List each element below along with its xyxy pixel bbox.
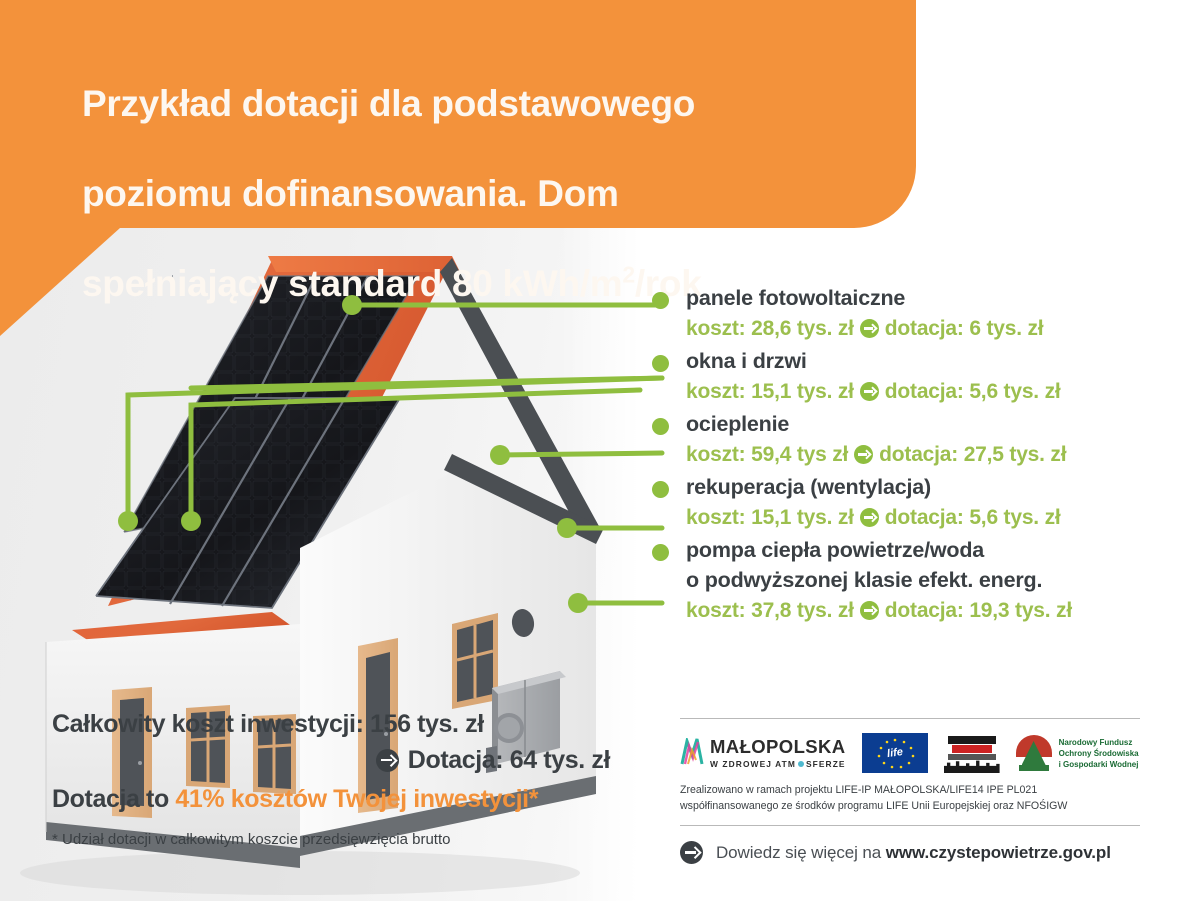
annotation-title: panele fotowoltaiczne	[686, 283, 1192, 313]
bullet-dot-icon	[652, 544, 669, 561]
annotation-title: rekuperacja (wentylacja)	[686, 472, 1192, 502]
arrow-right-circle-icon	[376, 749, 399, 772]
nfosigw-logo: Narodowy Fundusz Ochrony Środowiska i Go…	[1016, 735, 1145, 771]
grant-total-label: Dotacja: 64 tys. zł	[408, 742, 610, 778]
bullet-dot-icon	[652, 355, 669, 372]
annotation-grant: dotacja: 6 tys. zł	[885, 313, 1044, 344]
annotation-cost-row: koszt: 15,1 tys. zł dotacja: 5,6 tys. zł	[686, 502, 1192, 533]
infographic-root: Przykład dotacji dla podstawowego poziom…	[0, 0, 1200, 901]
title-superscript: 2	[622, 262, 634, 288]
kas-bar-top	[948, 736, 996, 744]
learn-more-prefix: Dowiedz się więcej na	[716, 843, 886, 862]
annotation-item-insulation: ocieplenie koszt: 59,4 tys zł dotacja: 2…	[652, 409, 1192, 470]
annotation-title: ocieplenie	[686, 409, 1192, 439]
malopolska-subtitle-b: SFERZE	[806, 760, 846, 768]
annotation-cost: koszt: 28,6 tys. zł	[686, 313, 854, 344]
footer-divider-top	[680, 718, 1140, 719]
arrow-right-circle-icon	[860, 601, 879, 620]
bullet-dot-icon	[652, 418, 669, 435]
annotation-item-heatpump: pompa ciepła powietrze/woda o podwyższon…	[652, 535, 1192, 626]
malopolska-logo: MAŁOPOLSKA W ZDROWEJ ATM SFERZE	[680, 738, 846, 768]
annotation-list: panele fotowoltaiczne koszt: 28,6 tys. z…	[652, 283, 1192, 628]
nfosigw-wordmark: Narodowy Fundusz Ochrony Środowiska i Go…	[1059, 737, 1145, 770]
annotation-cost: koszt: 15,1 tys. zł	[686, 376, 854, 407]
annotation-grant: dotacja: 5,6 tys. zł	[885, 502, 1061, 533]
kas-bar-bottom	[948, 754, 996, 760]
total-cost-line: Całkowity koszt inwestycji: 156 tys. zł	[52, 706, 652, 742]
malopolska-subtitle: W ZDROWEJ ATM SFERZE	[710, 760, 846, 768]
annotation-item-windows: okna i drzwi koszt: 15,1 tys. zł dotacja…	[652, 346, 1192, 407]
summary-footnote: * Udział dotacji w całkowitym koszcie pr…	[52, 828, 652, 852]
atmosphere-dot-icon	[798, 761, 804, 767]
footer-note-line-1: Zrealizowano w ramach projektu LIFE-IP M…	[680, 784, 1037, 796]
annotation-cost-row: koszt: 59,4 tys zł dotacja: 27,5 tys. zł	[686, 439, 1192, 470]
learn-more-text: Dowiedz się więcej na www.czystepowietrz…	[716, 843, 1111, 863]
nfosigw-shield-base	[1019, 765, 1049, 771]
website-url[interactable]: www.czystepowietrze.gov.pl	[886, 843, 1111, 862]
logo-row: MAŁOPOLSKA W ZDROWEJ ATM SFERZE	[680, 732, 1175, 774]
annotation-title: pompa ciepła powietrze/woda	[686, 535, 1192, 565]
footer-block: MAŁOPOLSKA W ZDROWEJ ATM SFERZE	[680, 718, 1175, 864]
summary-block: Całkowity koszt inwestycji: 156 tys. zł …	[52, 706, 652, 852]
eu-life-label: life	[886, 746, 903, 760]
learn-more-row[interactable]: Dowiedz się więcej na www.czystepowietrz…	[680, 841, 1175, 864]
nfosigw-line-2: Ochrony Środowiska	[1059, 749, 1139, 758]
nfosigw-shield-icon	[1016, 735, 1052, 771]
nfosigw-line-3: i Gospodarki Wodnej	[1059, 760, 1139, 769]
title-line-1: Przykład dotacji dla podstawowego	[82, 83, 695, 124]
arrow-right-circle-icon	[860, 319, 879, 338]
annotation-cost: koszt: 37,8 tys. zł	[686, 595, 854, 626]
kas-skyline-icon	[944, 760, 1000, 773]
arrow-right-circle-icon	[680, 841, 703, 864]
malopolska-subtitle-a: W ZDROWEJ ATM	[710, 760, 796, 768]
annotation-cost: koszt: 15,1 tys. zł	[686, 502, 854, 533]
bullet-dot-icon	[652, 292, 669, 309]
annotation-cost: koszt: 59,4 tys zł	[686, 439, 848, 470]
grant-total-line: Dotacja: 64 tys. zł	[52, 742, 652, 778]
kas-bar-mid	[952, 745, 992, 753]
arrow-right-circle-icon	[860, 382, 879, 401]
arrow-right-circle-icon	[854, 445, 873, 464]
bullet-dot-icon	[652, 481, 669, 498]
annotation-cost-row: koszt: 28,6 tys. zł dotacja: 6 tys. zł	[686, 313, 1192, 344]
footer-divider-bottom	[680, 825, 1140, 826]
annotation-grant: dotacja: 19,3 tys. zł	[885, 595, 1072, 626]
eu-life-logo: life	[862, 733, 928, 773]
krakowski-alarm-smogowy-logo	[944, 733, 1000, 773]
malopolska-mark-icon	[680, 738, 704, 765]
grant-share-prefix: Dotacja to	[52, 785, 175, 813]
nfosigw-line-1: Narodowy Fundusz	[1059, 738, 1133, 747]
annotation-grant: dotacja: 27,5 tys. zł	[879, 439, 1066, 470]
title-line-2: poziomu dofinansowania. Dom	[82, 173, 619, 214]
annotation-item-ventilation: rekuperacja (wentylacja) koszt: 15,1 tys…	[652, 472, 1192, 533]
annotation-title: okna i drzwi	[686, 346, 1192, 376]
page-title: Przykład dotacji dla podstawowego poziom…	[82, 36, 882, 306]
malopolska-title: MAŁOPOLSKA	[710, 738, 846, 757]
annotation-title-second-line: o podwyższonej klasie efekt. energ.	[686, 565, 1192, 595]
annotation-grant: dotacja: 5,6 tys. zł	[885, 376, 1061, 407]
title-line-3a: spełniający standard 80 kWh/m	[82, 263, 622, 304]
arrow-right-circle-icon	[860, 508, 879, 527]
grant-share-highlight: 41% kosztów Twojej inwestycji*	[175, 785, 538, 813]
footer-funding-note: Zrealizowano w ramach projektu LIFE-IP M…	[680, 783, 1175, 814]
grant-share-line: Dotacja to 41% kosztów Twojej inwestycji…	[52, 780, 652, 818]
annotation-cost-row: koszt: 37,8 tys. zł dotacja: 19,3 tys. z…	[686, 595, 1192, 626]
footer-note-line-2: współfinansowanego ze środków programu L…	[680, 800, 1067, 812]
malopolska-wordmark: MAŁOPOLSKA W ZDROWEJ ATM SFERZE	[710, 738, 846, 768]
annotation-item-pv: panele fotowoltaiczne koszt: 28,6 tys. z…	[652, 283, 1192, 344]
annotation-cost-row: koszt: 15,1 tys. zł dotacja: 5,6 tys. zł	[686, 376, 1192, 407]
